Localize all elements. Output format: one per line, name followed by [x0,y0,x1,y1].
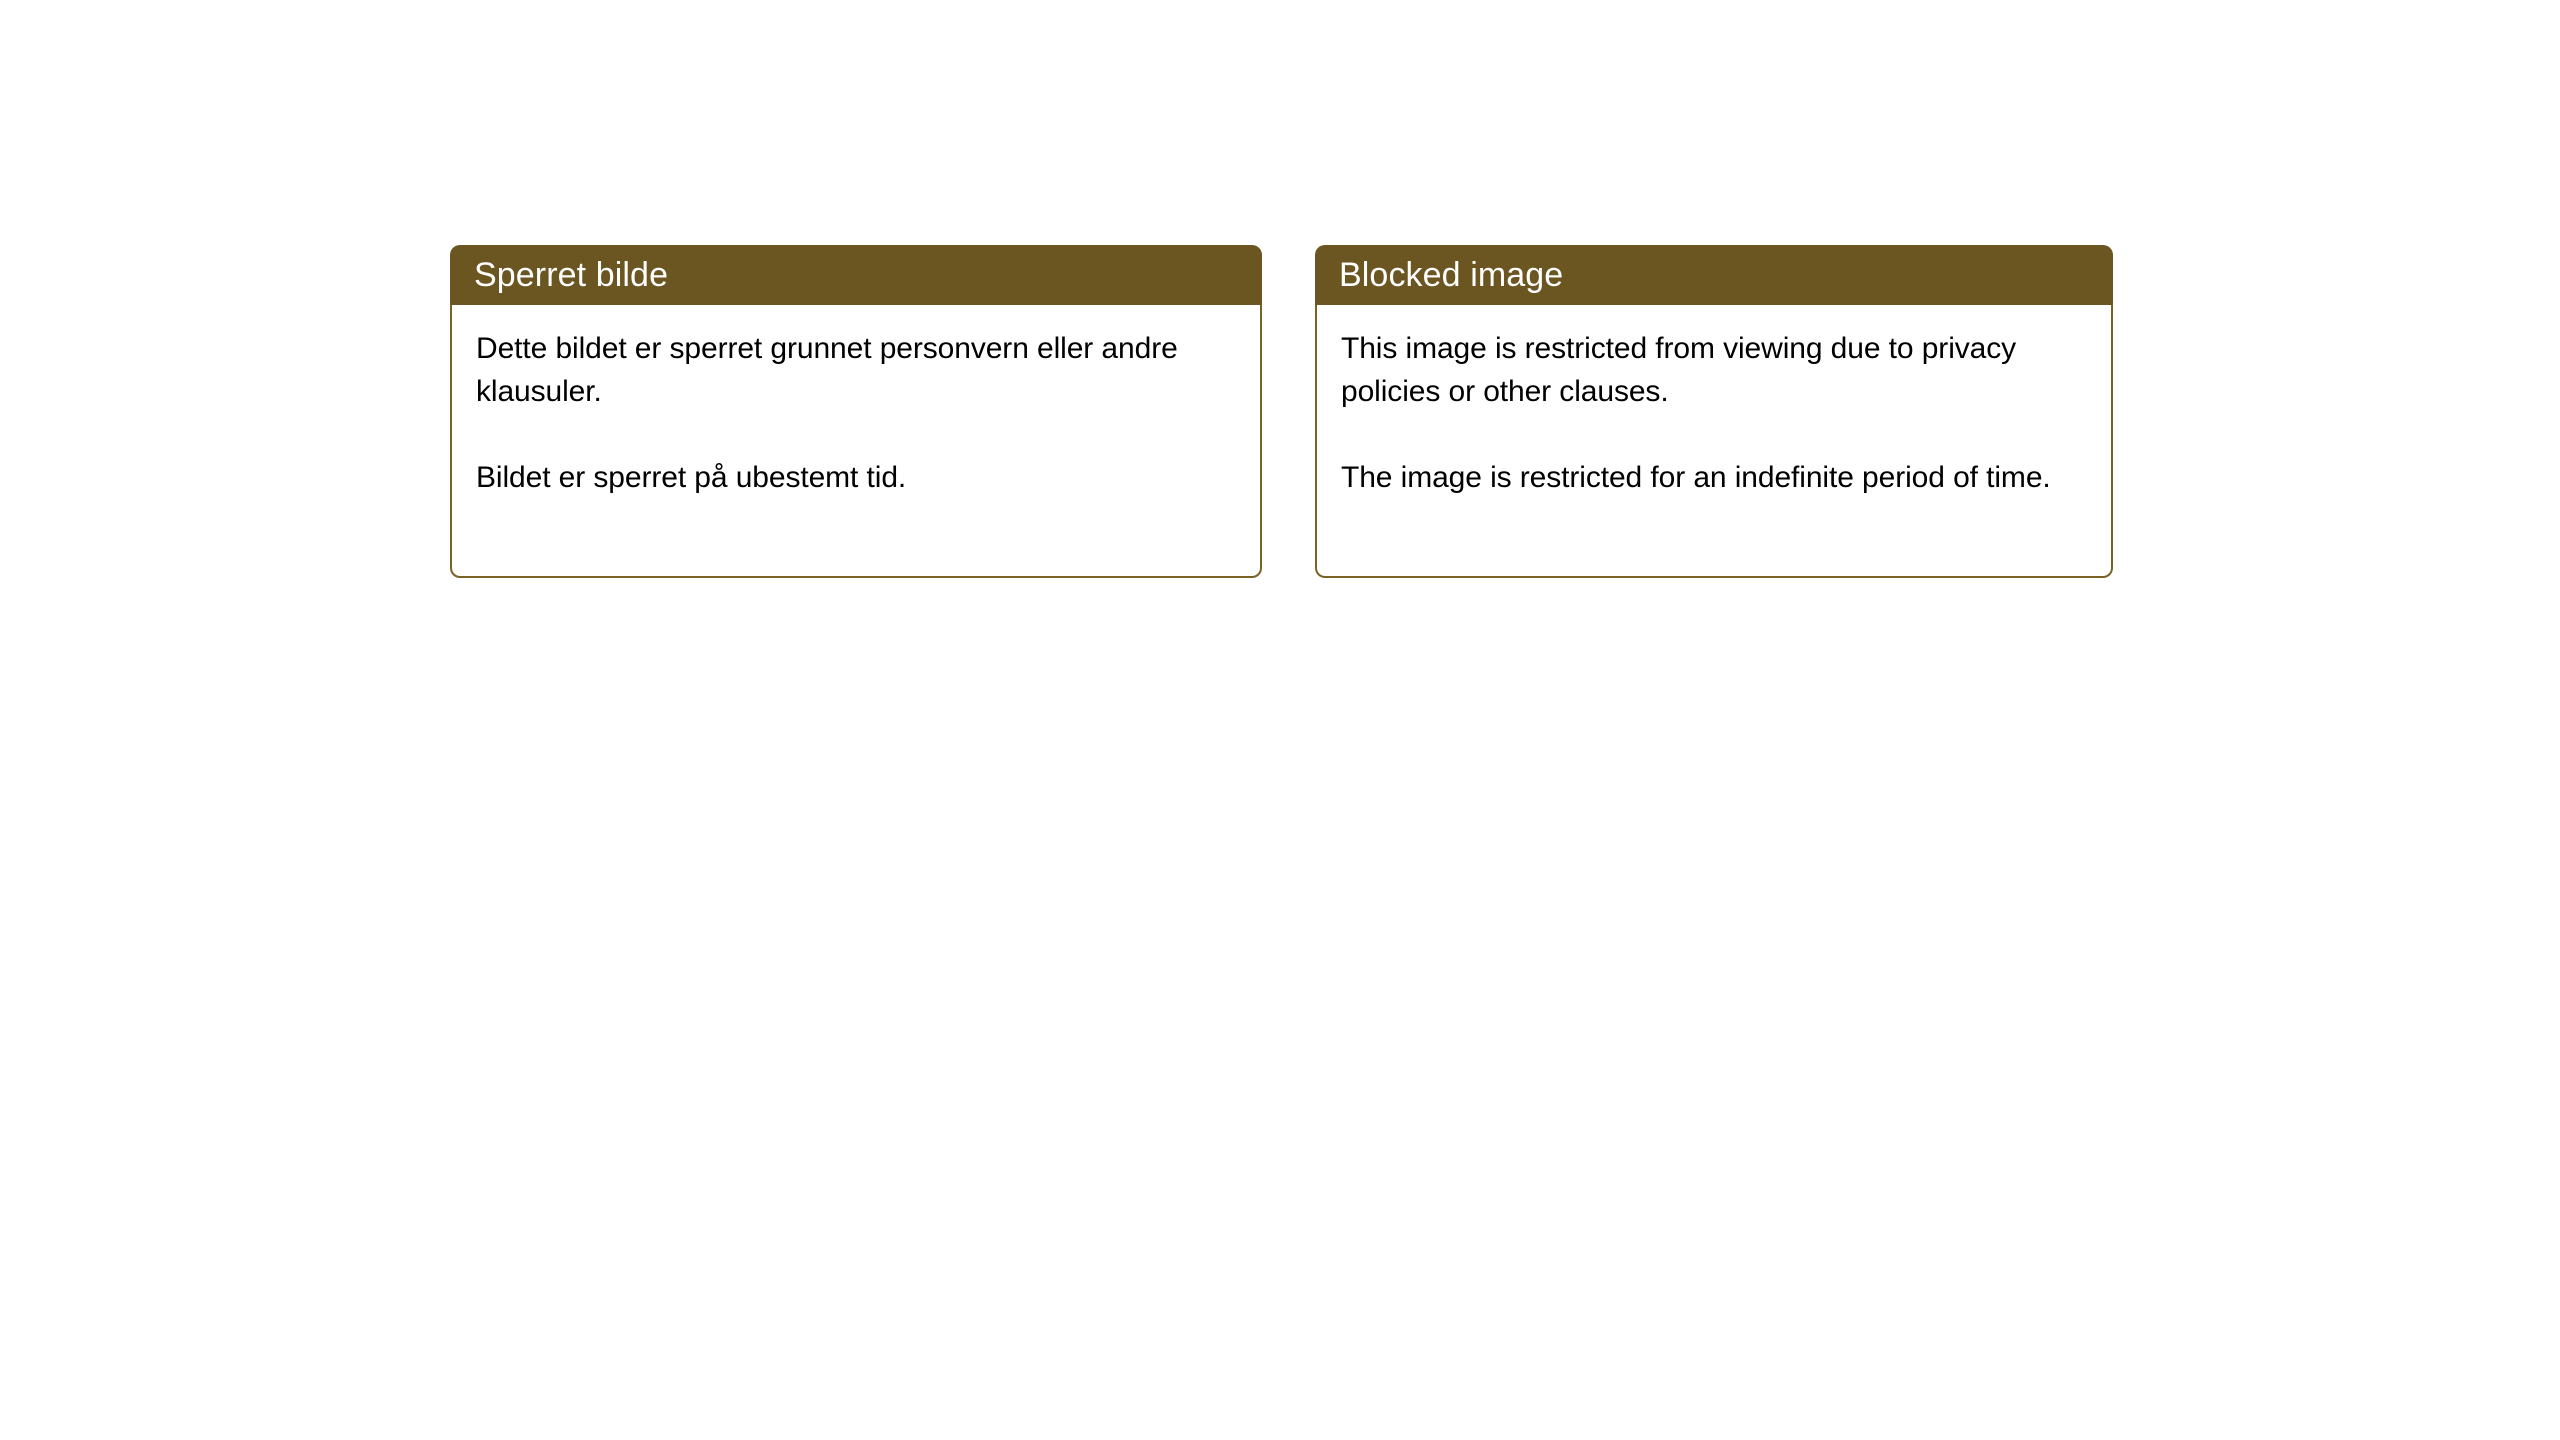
blocked-image-notice-english: Blocked image This image is restricted f… [1315,245,2113,578]
blocked-image-notice-area: Sperret bilde Dette bildet er sperret gr… [0,245,2560,585]
notice-header-english: Blocked image [1315,245,2113,305]
notice-paragraph: This image is restricted from viewing du… [1341,327,2091,413]
notice-title-norwegian: Sperret bilde [474,255,668,295]
notice-body-english: This image is restricted from viewing du… [1315,305,2113,578]
notice-body-norwegian: Dette bildet er sperret grunnet personve… [450,305,1262,578]
notice-paragraph: Dette bildet er sperret grunnet personve… [476,327,1240,413]
notice-header-norwegian: Sperret bilde [450,245,1262,305]
notice-title-english: Blocked image [1339,255,1563,295]
notice-paragraph: The image is restricted for an indefinit… [1341,456,2091,499]
blocked-image-notice-norwegian: Sperret bilde Dette bildet er sperret gr… [450,245,1262,578]
notice-paragraph: Bildet er sperret på ubestemt tid. [476,456,1240,499]
